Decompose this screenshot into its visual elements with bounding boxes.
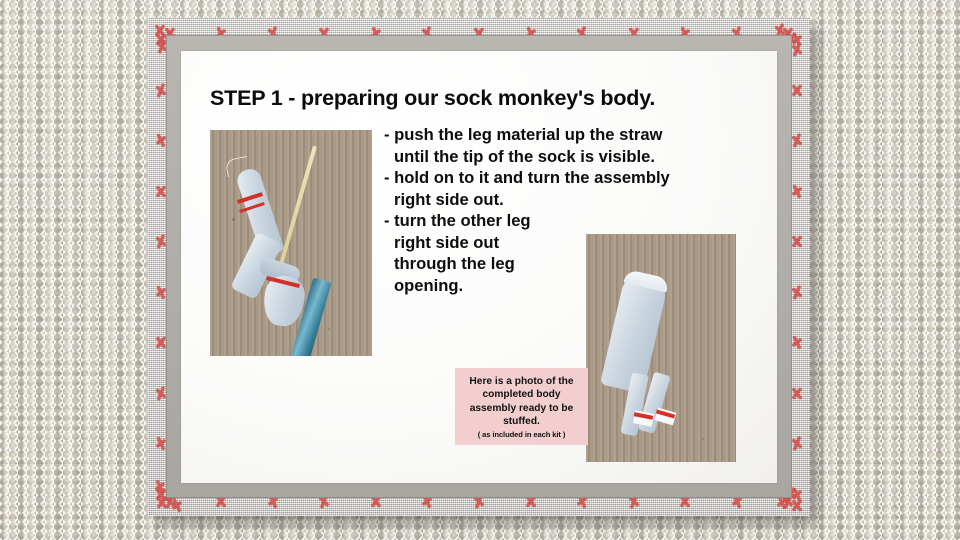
page-title: STEP 1 - preparing our sock monkey's bod… (210, 86, 655, 111)
cardboard-backdrop (586, 234, 736, 462)
completed-body-assembly-photo (586, 234, 736, 462)
cardboard-speck (328, 328, 330, 330)
caption-sub-text: ( as included in each kit ) (460, 430, 583, 439)
caption-main-text: Here is a photo of the completed body as… (460, 375, 583, 429)
cardboard-speck (232, 218, 235, 221)
cross-stitch-mark (789, 498, 804, 513)
instruction-item: - push the leg material up the straw unt… (384, 124, 724, 167)
cardboard-backdrop (210, 130, 372, 356)
sock-leg-on-straw-photo (210, 130, 372, 356)
instruction-item: - hold on to it and turn the assembly ri… (384, 167, 724, 210)
cardboard-speck (702, 438, 704, 440)
photo-caption-box: Here is a photo of the completed body as… (455, 368, 588, 445)
cross-stitch-mark (169, 498, 184, 513)
